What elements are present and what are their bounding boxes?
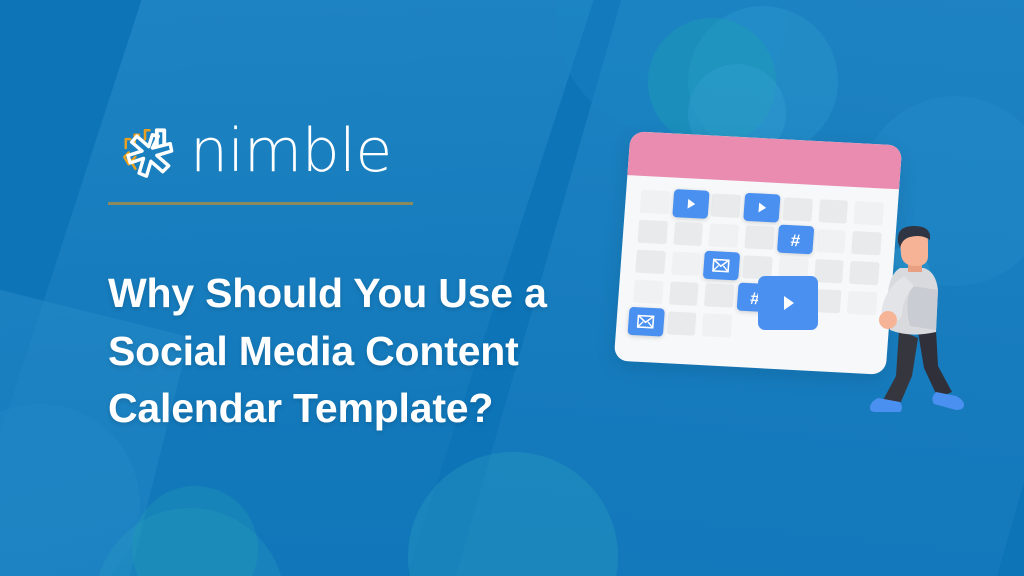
calendar-cell-empty [637, 220, 667, 244]
calendar-cell-empty [782, 197, 812, 221]
envelope-icon [713, 258, 731, 272]
hashtag-icon: # [790, 231, 801, 249]
person-back-leg [882, 330, 918, 404]
nimble-star-logo-icon [108, 114, 182, 188]
calendar-cell-empty [671, 252, 701, 276]
logo-divider-rule [108, 202, 413, 205]
calendar-cell-empty [640, 190, 670, 214]
carried-play-card [758, 276, 818, 330]
headline-line-3: Calendar Template? [108, 385, 493, 431]
calendar-cell-empty [667, 311, 697, 335]
envelope-icon [637, 315, 655, 329]
play-icon [777, 292, 799, 314]
person-sweater-shade [907, 286, 938, 330]
calendar-cell-empty [814, 259, 844, 283]
brand-logo[interactable]: nimble [108, 112, 418, 207]
calendar-cell-empty [702, 313, 732, 337]
person-front-shoe [932, 392, 964, 410]
calendar-cell-empty [854, 201, 884, 225]
brand-wordmark: nimble [190, 121, 392, 181]
calendar-cell-empty [818, 199, 848, 223]
play-icon [753, 199, 770, 216]
brand-logo-row: nimble [108, 112, 418, 190]
calendar-cell-empty [704, 283, 734, 307]
calendar-cell-empty [673, 222, 703, 246]
calendar-cell-empty [709, 223, 739, 247]
page-title: Why Should You Use a Social Media Conten… [108, 265, 598, 437]
person-hand [879, 311, 897, 329]
calendar-cell-empty [816, 229, 846, 253]
headline-line-1: Why Should You Use a [108, 270, 547, 316]
play-icon [682, 196, 699, 213]
calendar-cell-empty [669, 281, 699, 305]
calendar-cell-email [628, 307, 665, 337]
calendar-cell-video [743, 193, 780, 223]
calendar-cell-hashtag: # [777, 225, 814, 255]
calendar-cell-video [672, 189, 709, 219]
calendar-cell-email [703, 251, 740, 281]
banner-canvas: nimble Why Should You Use a Social Media… [0, 0, 1024, 576]
person-illustration [852, 226, 972, 416]
calendar-cell-empty [744, 225, 774, 249]
calendar-header-bar [627, 131, 902, 189]
calendar-cell-empty [635, 250, 665, 274]
calendar-cell-empty [633, 280, 663, 304]
headline-line-2: Social Media Content [108, 328, 519, 374]
person-front-leg [918, 330, 952, 398]
calendar-cell-empty [711, 194, 741, 218]
hero-illustration: ## [600, 110, 1024, 440]
